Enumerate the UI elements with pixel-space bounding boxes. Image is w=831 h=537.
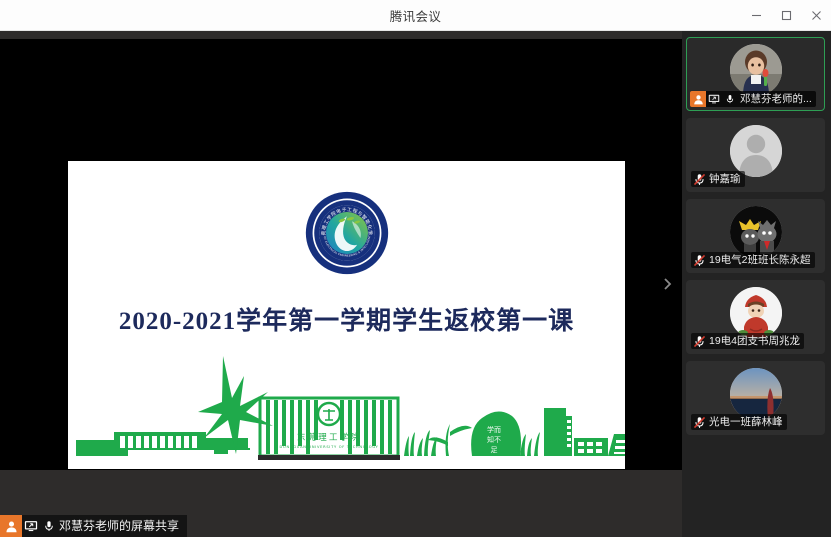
participant-status-strip: 钟嘉瑜 xyxy=(691,171,745,187)
participant-tile[interactable]: 19电气2班班长陈永超 xyxy=(686,199,825,273)
window-controls xyxy=(741,0,831,30)
share-status-text: 邓慧芬老师的屏幕共享 xyxy=(58,515,179,537)
window-title: 腾讯会议 xyxy=(0,6,831,25)
avatar xyxy=(730,287,782,339)
participant-name: 钟嘉瑜 xyxy=(707,171,745,187)
participant-status-strip: 19电气2班班长陈永超 xyxy=(691,252,815,268)
microphone-muted-icon xyxy=(691,333,707,349)
minimize-button[interactable] xyxy=(741,0,771,30)
participant-tile[interactable]: 19电4团支书周兆龙 xyxy=(686,280,825,354)
avatar-photo-sunset xyxy=(730,368,782,420)
mic-muted-icon xyxy=(693,173,706,186)
microphone-muted-icon xyxy=(691,171,707,187)
share-info-group: 邓慧芬老师的屏幕共享 xyxy=(22,515,187,537)
maximize-button[interactable] xyxy=(771,0,801,30)
chevron-right-icon xyxy=(663,277,672,291)
maximize-icon xyxy=(781,10,792,21)
minimize-icon xyxy=(751,10,762,21)
participant-status-strip: 19电4团支书周兆龙 xyxy=(691,333,804,349)
svg-text:知不: 知不 xyxy=(487,435,501,444)
mic-icon xyxy=(43,519,55,533)
participant-name: 19电气2班班长陈永超 xyxy=(707,252,815,268)
avatar xyxy=(730,368,782,420)
participant-tile[interactable]: 钟嘉瑜 xyxy=(686,118,825,192)
university-emblem-icon: 东莞理工学院电子工程与智能化学院 SCHOOL OF ELECTRICAL EN… xyxy=(305,191,389,275)
microphone-muted-icon xyxy=(691,252,707,268)
svg-text:足: 足 xyxy=(491,446,498,454)
mic-muted-icon xyxy=(693,416,706,429)
participant-name: 邓慧芬老师的... xyxy=(738,91,816,107)
mic-muted-icon xyxy=(693,335,706,348)
tencent-meeting-window: 腾讯会议 xyxy=(0,0,831,537)
avatar-photo-child xyxy=(730,44,782,96)
host-badge-icon xyxy=(0,515,22,537)
shared-slide: 东莞理工学院电子工程与智能化学院 SCHOOL OF ELECTRICAL EN… xyxy=(68,161,625,469)
close-icon xyxy=(811,10,822,21)
monitor-icon xyxy=(24,519,38,533)
host-person-icon xyxy=(5,520,18,533)
microphone-icon xyxy=(722,91,738,107)
avatar-default-person-icon xyxy=(730,125,782,177)
participant-tile[interactable]: 邓慧芬老师的... xyxy=(686,37,825,111)
host-person-icon xyxy=(693,94,704,105)
screen-share-status-bar: 邓慧芬老师的屏幕共享 xyxy=(0,515,187,537)
participant-status-strip: 邓慧芬老师的... xyxy=(690,91,816,107)
close-button[interactable] xyxy=(801,0,831,30)
slide-title: 2020-2021学年第一学期学生返校第一课 xyxy=(68,301,625,337)
participant-panel: 邓慧芬老师的... xyxy=(682,31,831,537)
monitor-icon xyxy=(708,93,720,105)
avatar xyxy=(730,206,782,258)
title-bar: 腾讯会议 xyxy=(0,0,831,31)
participant-status-strip: 光电一班薛林峰 xyxy=(691,414,787,430)
svg-text:东莞理工学院: 东莞理工学院 xyxy=(297,432,361,443)
participant-name: 光电一班薛林峰 xyxy=(707,414,787,430)
mic-muted-icon xyxy=(693,254,706,267)
screen-share-icon xyxy=(22,515,40,537)
participant-name: 19电4团支书周兆龙 xyxy=(707,333,804,349)
avatar-photo-cartoon-wolf xyxy=(730,206,782,258)
svg-text:学而: 学而 xyxy=(487,425,501,434)
mic-icon xyxy=(725,93,735,105)
avatar-photo-cartoon-red xyxy=(730,287,782,339)
svg-text:DONGGUAN UNIVERSITY OF TECHNOL: DONGGUAN UNIVERSITY OF TECHNOLOGY xyxy=(279,445,378,449)
participant-tile[interactable]: 光电一班薛林峰 xyxy=(686,361,825,435)
collapse-panel-button[interactable] xyxy=(660,271,674,297)
avatar xyxy=(730,44,782,96)
screen-share-icon xyxy=(706,91,722,107)
host-badge-icon xyxy=(690,91,706,107)
shared-screen-stage[interactable]: 东莞理工学院电子工程与智能化学院 SCHOOL OF ELECTRICAL EN… xyxy=(0,31,682,537)
microphone-muted-icon xyxy=(691,414,707,430)
avatar xyxy=(730,125,782,177)
microphone-icon xyxy=(40,515,58,537)
campus-skyline-illustration: 东莞理工学院 DONGGUAN UNIVERSITY OF TECHNOLOGY xyxy=(68,354,625,469)
meeting-body: 东莞理工学院电子工程与智能化学院 SCHOOL OF ELECTRICAL EN… xyxy=(0,31,831,537)
